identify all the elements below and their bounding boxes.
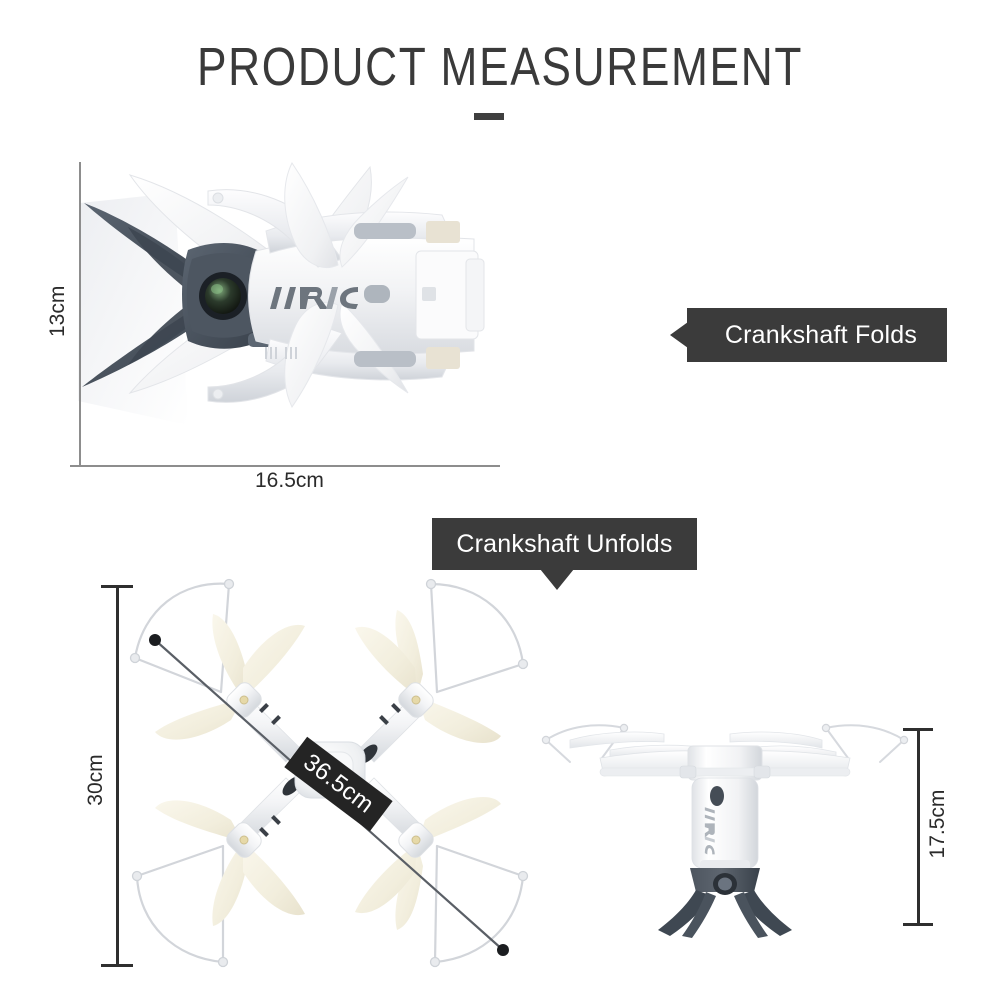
page-title: PRODUCT MEASUREMENT: [90, 36, 910, 98]
callout-label: Crankshaft Folds: [725, 321, 917, 350]
dimension-cap-top-175cm: [903, 728, 933, 731]
dimension-label-30cm: 30cm: [84, 752, 108, 808]
callout-crankshaft-unfolds[interactable]: Crankshaft Unfolds: [432, 518, 697, 570]
product-measurement-page: PRODUCT MEASUREMENT: [0, 0, 1000, 1000]
side-view-drone-illustration: [540, 700, 910, 940]
dimension-cap-bottom-175cm: [903, 923, 933, 926]
dimension-line-width-165cm: [70, 465, 500, 467]
folded-drone-illustration: [70, 155, 510, 475]
callout-tail-down-icon: [540, 569, 574, 590]
dimension-label-175cm: 17.5cm: [926, 789, 950, 859]
dimension-cap-top-30cm: [101, 585, 133, 588]
arm-latch-bottom: [354, 351, 416, 367]
landing-gear: [658, 868, 792, 938]
arm-latch-top: [354, 223, 416, 239]
dimension-cap-bottom-30cm: [101, 964, 133, 967]
dimension-label-165cm: 16.5cm: [255, 469, 324, 493]
power-button: [364, 285, 390, 303]
callout-tail-left-icon: [670, 322, 688, 348]
callout-crankshaft-folds[interactable]: Crankshaft Folds: [687, 308, 947, 362]
dimension-label-13cm: 13cm: [46, 287, 70, 337]
dimension-line-height-13cm: [79, 162, 81, 467]
callout-label: Crankshaft Unfolds: [456, 530, 672, 559]
side-power-button: [710, 786, 724, 806]
camera-lens: [205, 278, 241, 314]
dimension-line-height-30cm: [116, 585, 119, 967]
side-body-column: [692, 778, 758, 872]
folded-drone-svg: [70, 155, 510, 475]
side-view-drone-svg: [540, 700, 910, 940]
dimension-line-height-175cm: [917, 728, 920, 926]
title-divider-dash: [474, 113, 504, 120]
